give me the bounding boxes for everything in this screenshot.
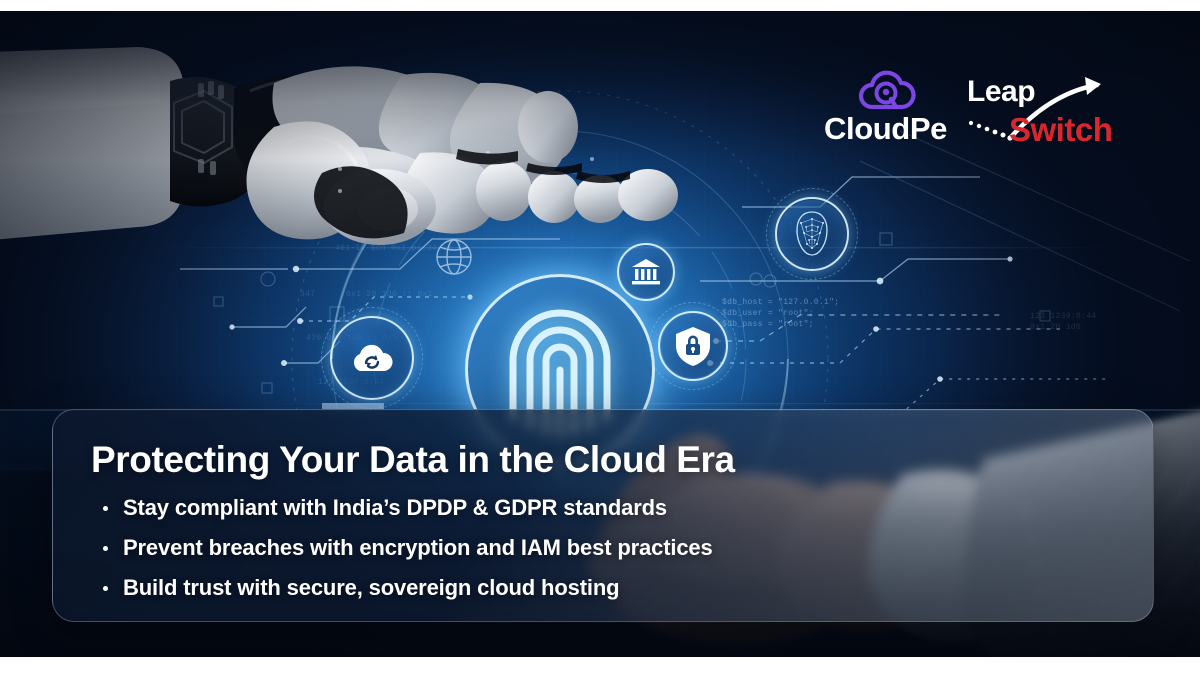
leapswitch-logo[interactable]: Leap Switch <box>963 71 1143 151</box>
poster-canvas: $db_host = "127.0.0.1"; $db_user = "root… <box>0 0 1200 675</box>
hero-glass-panel: Protecting Your Data in the Cloud Era St… <box>52 409 1154 622</box>
hero-bullet-list: Stay compliant with India’s DPDP & GDPR … <box>91 497 1153 599</box>
cloud-sync-icon <box>349 341 395 375</box>
shield-lock-icon <box>674 325 712 367</box>
list-item: Stay compliant with India’s DPDP & GDPR … <box>101 497 1153 519</box>
code-snippet-misc-3: 347 0x1 20 1d0 :: 0x1 <box>300 289 433 300</box>
artwork-background: $db_host = "127.0.0.1"; $db_user = "root… <box>0 11 1200 657</box>
hero-panel-inner: Protecting Your Data in the Cloud Era St… <box>53 410 1153 599</box>
list-item: Prevent breaches with encryption and IAM… <box>101 537 1153 559</box>
list-item: Build trust with secure, sovereign cloud… <box>101 577 1153 599</box>
code-snippet-misc-6: 123 1239:0:44 0x1 20 1d0 <box>1030 311 1096 333</box>
cloudpe-wordmark: CloudPe <box>818 111 953 147</box>
robot-hand <box>0 31 708 271</box>
cloudpe-logo[interactable]: CloudPe <box>818 69 953 151</box>
code-snippet-db: $db_host = "127.0.0.1"; $db_user = "root… <box>722 297 839 330</box>
leapswitch-word-switch: Switch <box>1009 111 1112 149</box>
leapswitch-word-leap: Leap <box>967 75 1035 109</box>
page-title: Protecting Your Data in the Cloud Era <box>91 440 1153 481</box>
face-recognition-hud <box>775 197 849 271</box>
face-recognition-icon <box>793 211 831 257</box>
cloud-pin-icon <box>852 69 920 113</box>
cloud-sync-hud <box>330 316 414 400</box>
